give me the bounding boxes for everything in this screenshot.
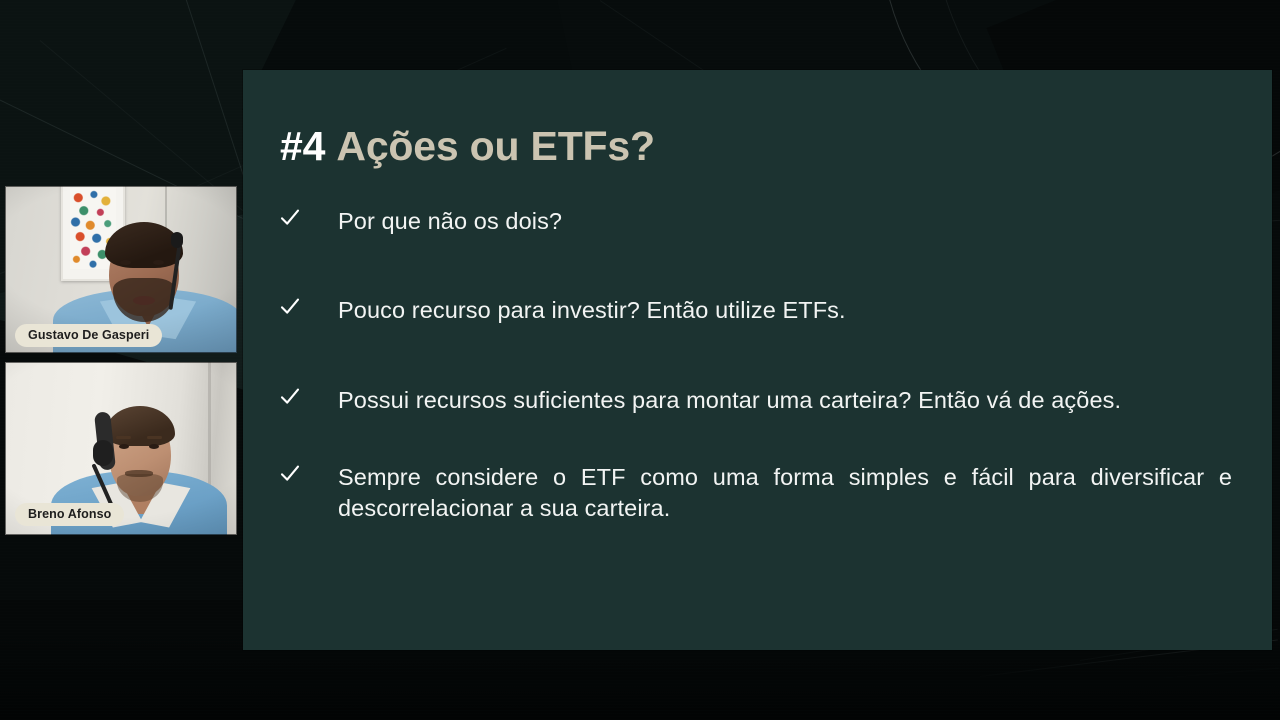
list-item: Sempre considere o ETF como uma forma si…	[280, 462, 1232, 525]
list-item: Possui recursos suficientes para montar …	[280, 385, 1232, 416]
slide-title: #4 Ações ou ETFs?	[280, 125, 1232, 168]
check-icon	[280, 462, 302, 483]
list-item: Pouco recurso para investir? Então utili…	[280, 295, 1232, 326]
slide-title-text: Ações ou ETFs?	[336, 123, 654, 169]
check-icon	[280, 295, 302, 316]
screen-root: #4 Ações ou ETFs? Por que não os dois?	[0, 0, 1280, 720]
slide-title-number: #4	[280, 123, 325, 169]
list-item: Por que não os dois?	[280, 206, 1232, 237]
participant-name-badge: Breno Afonso	[15, 503, 124, 526]
video-tile-participant-2[interactable]: Breno Afonso	[5, 362, 237, 535]
bullet-text: Sempre considere o ETF como uma forma si…	[338, 462, 1232, 525]
bullet-text: Pouco recurso para investir? Então utili…	[338, 295, 1232, 326]
video-tile-participant-1[interactable]: Gustavo De Gasperi	[5, 186, 237, 353]
check-icon	[280, 206, 302, 227]
bullet-list: Por que não os dois? Pouco recurso para …	[280, 206, 1232, 524]
bullet-text: Possui recursos suficientes para montar …	[338, 385, 1232, 416]
check-icon	[280, 385, 302, 406]
presentation-slide[interactable]: #4 Ações ou ETFs? Por que não os dois?	[243, 70, 1272, 650]
slide-content: #4 Ações ou ETFs? Por que não os dois?	[243, 70, 1272, 650]
bullet-text: Por que não os dois?	[338, 206, 1232, 237]
participant-name-badge: Gustavo De Gasperi	[15, 324, 162, 347]
